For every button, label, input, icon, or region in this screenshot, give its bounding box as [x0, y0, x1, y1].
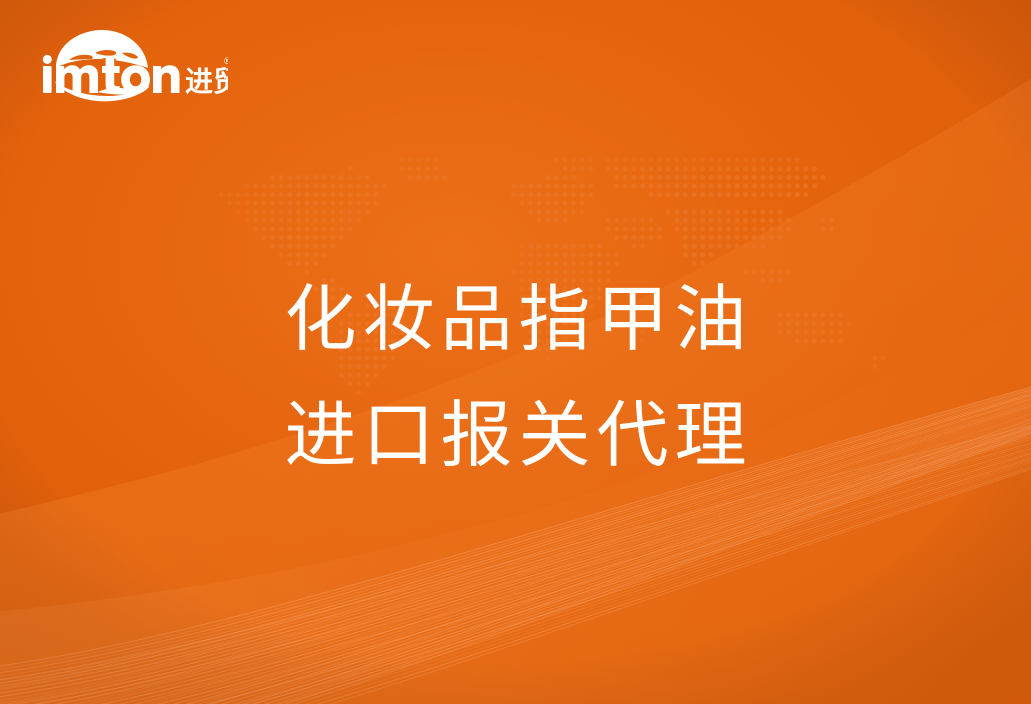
logo-wordmark-chinese: 进贸通: [185, 65, 228, 98]
brand-logo[interactable]: 进贸通 ®: [38, 26, 228, 104]
trademark-symbol: ®: [224, 56, 228, 66]
headline-block: 化妆品指甲油 进口报关代理: [0, 262, 1031, 494]
headline-line-2: 进口报关代理: [0, 378, 1031, 494]
headline-line-1: 化妆品指甲油: [0, 262, 1031, 378]
promo-banner: 进贸通 ® 化妆品指甲油 进口报关代理: [0, 0, 1031, 704]
